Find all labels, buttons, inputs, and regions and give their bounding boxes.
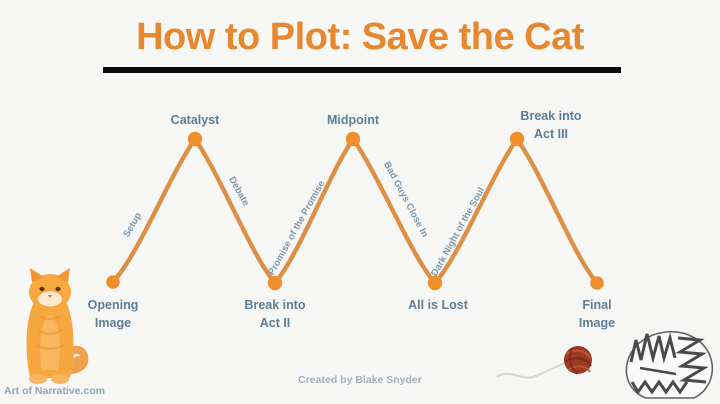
- infographic-canvas: How to Plot: Save the Cat: [0, 0, 720, 404]
- brand-logo-watermark: [626, 332, 712, 398]
- cat-illustration: [27, 268, 85, 384]
- plot-node-midpoint[interactable]: [346, 132, 360, 146]
- plot-node-catalyst[interactable]: [188, 132, 202, 146]
- node-label-all-is-lost: All is Lost: [408, 296, 468, 314]
- plot-node-all-is-lost[interactable]: [428, 276, 442, 290]
- site-watermark: Art of Narrative.com: [4, 385, 105, 397]
- node-label-break-into-act-ii: Break into Act II: [244, 296, 305, 332]
- node-label-midpoint: Midpoint: [327, 111, 379, 129]
- story-structure-chart: [0, 0, 720, 404]
- plot-curve: [113, 139, 597, 283]
- node-label-final-image: Final Image: [579, 296, 615, 332]
- node-label-opening-image: Opening Image: [88, 296, 139, 332]
- plot-node-break-into-act-ii[interactable]: [268, 276, 282, 290]
- yarn-ball-illustration: [498, 346, 592, 378]
- credit-line: Created by Blake Snyder: [0, 374, 720, 386]
- plot-node-opening-image[interactable]: [106, 275, 120, 289]
- node-label-catalyst: Catalyst: [171, 111, 220, 129]
- plot-node-final-image[interactable]: [590, 276, 604, 290]
- node-label-break-into-act-iii: Break into Act III: [520, 107, 581, 143]
